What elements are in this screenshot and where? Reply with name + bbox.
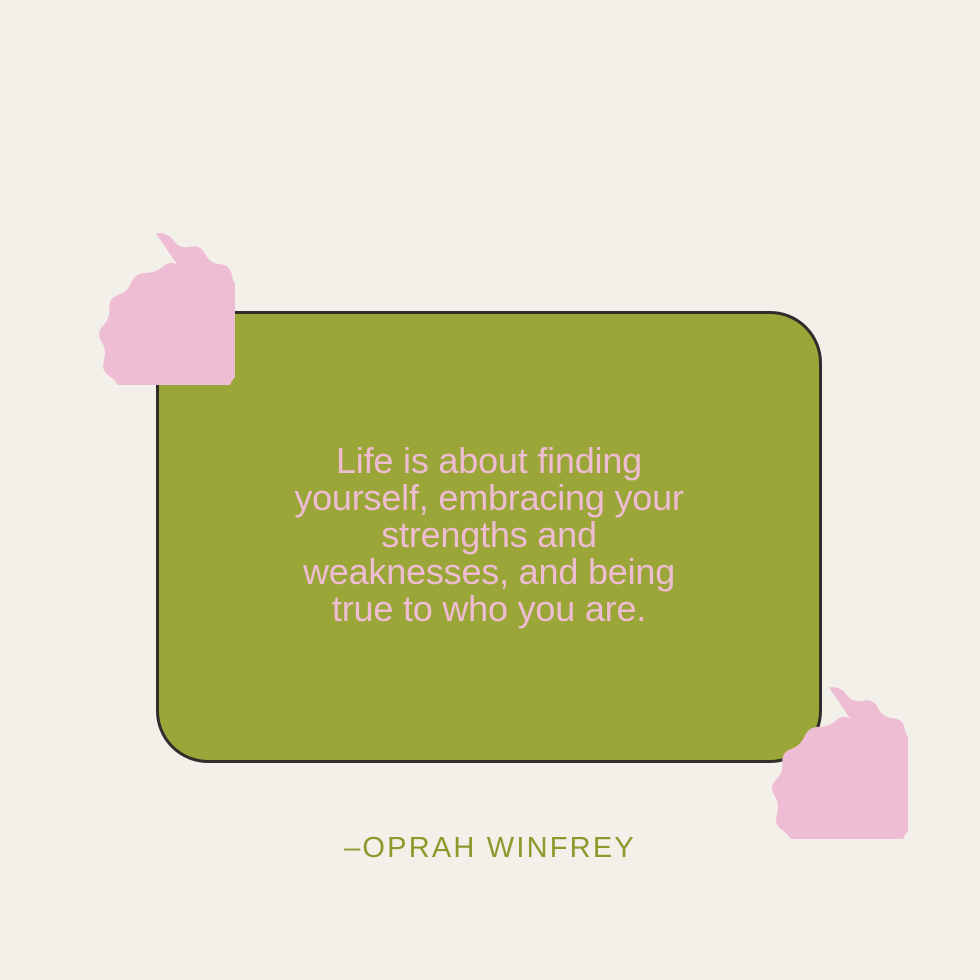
quote-attribution: –OPRAH WINFREY [0, 832, 980, 865]
quote-poster: Life is about finding yourself, embracin… [0, 0, 980, 980]
quote-text: Life is about finding yourself, embracin… [159, 442, 819, 627]
quote-card: Life is about finding yourself, embracin… [156, 311, 822, 763]
